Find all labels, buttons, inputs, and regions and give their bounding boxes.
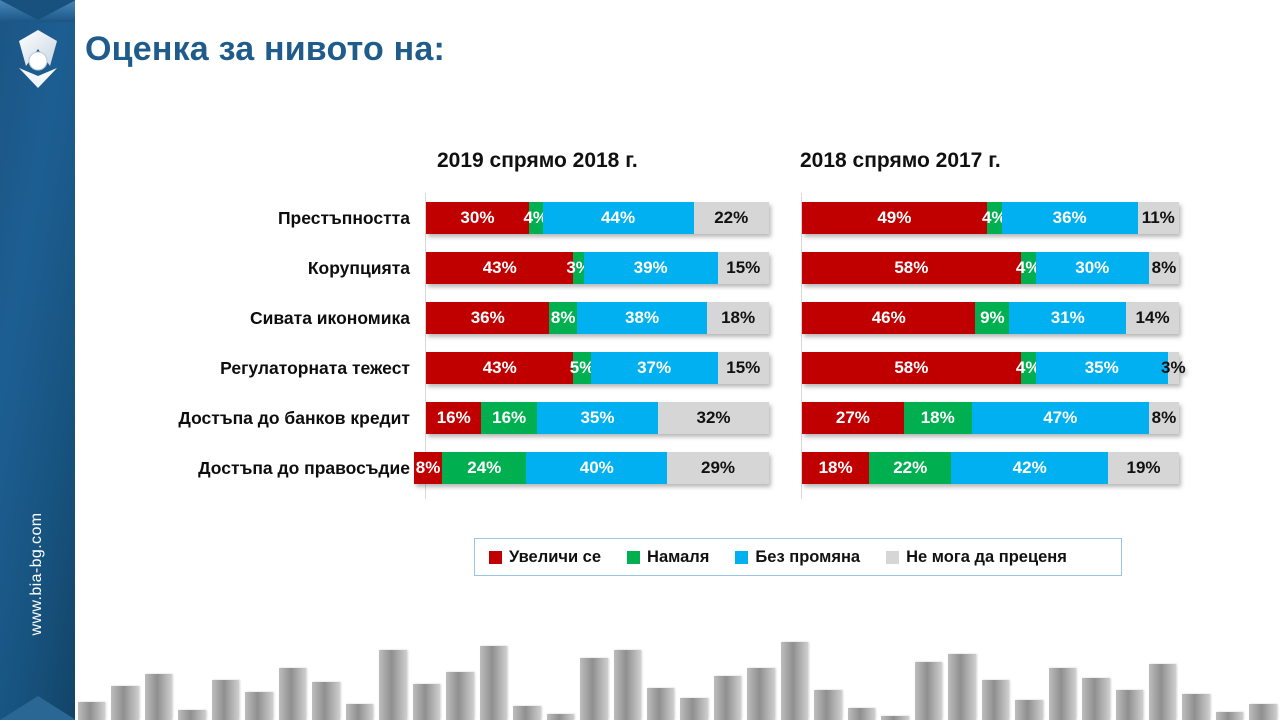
- category-label: Достъпа до правосъдие: [110, 443, 410, 493]
- data-label: 39%: [634, 258, 668, 278]
- segment-increase[interactable]: 27%: [802, 402, 904, 434]
- decorative-bar-strip: [75, 595, 1280, 720]
- data-label: 22%: [893, 458, 927, 478]
- data-label: 46%: [872, 308, 906, 328]
- segment-increase[interactable]: 43%: [426, 252, 573, 284]
- data-label: 35%: [1085, 358, 1119, 378]
- segment-no-change[interactable]: 35%: [1036, 352, 1168, 384]
- segment-no-change[interactable]: 47%: [972, 402, 1149, 434]
- bar-row: 46%9%31%14%: [802, 293, 1179, 343]
- chart-title-2019-vs-2018: 2019 спрямо 2018 г.: [437, 149, 638, 173]
- decorative-bar: [1249, 704, 1276, 720]
- decorative-bar: [145, 674, 172, 720]
- category-axis-labels: Престъпността Корупцията Сивата икономик…: [110, 193, 410, 493]
- stacked-bar[interactable]: 43%5%37%15%: [426, 352, 769, 384]
- stacked-bar[interactable]: 58%4%35%3%: [802, 352, 1179, 384]
- rail-top-notch: [0, 0, 75, 22]
- segment-cannot-judge[interactable]: 15%: [718, 252, 769, 284]
- decorative-bar: [747, 668, 774, 720]
- decorative-bar: [446, 672, 473, 720]
- segment-cannot-judge[interactable]: 15%: [718, 352, 769, 384]
- legend-swatch-decrease: [627, 551, 640, 564]
- bar-row: 43%3%39%15%: [426, 243, 769, 293]
- segment-no-change[interactable]: 40%: [526, 452, 667, 484]
- bia-emblem-icon: [7, 24, 69, 94]
- segment-no-change[interactable]: 31%: [1009, 302, 1126, 334]
- decorative-bar: [279, 668, 306, 720]
- legend-item-no-change[interactable]: Без промяна: [735, 548, 860, 567]
- data-label: 24%: [467, 458, 501, 478]
- chart-plot-2018-vs-2017: 49%4%36%11%58%4%30%8%46%9%31%14%58%4%35%…: [801, 193, 1179, 499]
- segment-decrease[interactable]: 4%: [1021, 352, 1036, 384]
- data-label: 16%: [437, 408, 471, 428]
- decorative-bar: [814, 690, 841, 720]
- legend-item-cannot-judge[interactable]: Не мога да преценя: [886, 548, 1067, 567]
- category-label: Сивата икономика: [110, 293, 410, 343]
- category-label: Корупцията: [110, 243, 410, 293]
- bar-row: 18%22%42%19%: [802, 443, 1179, 493]
- stacked-bar[interactable]: 16%16%35%32%: [426, 402, 769, 434]
- data-label: 9%: [980, 308, 1005, 328]
- decorative-bar: [1082, 678, 1109, 720]
- decorative-bar: [948, 654, 975, 720]
- segment-increase[interactable]: 58%: [802, 352, 1021, 384]
- decorative-bar: [714, 676, 741, 720]
- decorative-bar: [78, 702, 105, 720]
- stacked-bar[interactable]: 36%8%38%18%: [426, 302, 769, 334]
- decorative-bar: [982, 680, 1009, 720]
- segment-decrease[interactable]: 22%: [869, 452, 951, 484]
- data-label: 35%: [580, 408, 614, 428]
- bar-row: 16%16%35%32%: [426, 393, 769, 443]
- segment-decrease[interactable]: 24%: [442, 452, 526, 484]
- stacked-bar[interactable]: 30%4%44%22%: [426, 202, 769, 234]
- segment-no-change[interactable]: 36%: [1002, 202, 1138, 234]
- data-label: 30%: [460, 208, 494, 228]
- bar-row: 49%4%36%11%: [802, 193, 1179, 243]
- segment-cannot-judge[interactable]: 3%: [1168, 352, 1179, 384]
- segment-decrease[interactable]: 4%: [1021, 252, 1036, 284]
- data-label: 11%: [1142, 208, 1175, 228]
- data-label: 30%: [1075, 258, 1109, 278]
- category-label: Престъпността: [110, 193, 410, 243]
- chart-title-2018-vs-2017: 2018 спрямо 2017 г.: [800, 149, 1001, 173]
- legend-label-increase: Увеличи се: [509, 548, 601, 567]
- segment-decrease[interactable]: 5%: [573, 352, 590, 384]
- data-label: 38%: [625, 308, 659, 328]
- data-label: 18%: [921, 408, 955, 428]
- segment-decrease[interactable]: 9%: [975, 302, 1009, 334]
- segment-decrease[interactable]: 4%: [987, 202, 1002, 234]
- decorative-bar: [781, 642, 808, 720]
- decorative-bar: [178, 710, 205, 720]
- decorative-bar: [480, 646, 507, 720]
- segment-no-change[interactable]: 42%: [951, 452, 1108, 484]
- data-label: 49%: [877, 208, 911, 228]
- data-label: 37%: [637, 358, 671, 378]
- data-label: 43%: [483, 258, 517, 278]
- segment-increase[interactable]: 58%: [802, 252, 1021, 284]
- segment-increase[interactable]: 18%: [802, 452, 869, 484]
- bar-row: 58%4%35%3%: [802, 343, 1179, 393]
- segment-no-change[interactable]: 35%: [537, 402, 658, 434]
- segment-decrease[interactable]: 3%: [573, 252, 583, 284]
- bar-row: 30%4%44%22%: [426, 193, 769, 243]
- decorative-bar: [346, 704, 373, 720]
- segment-increase[interactable]: 36%: [426, 302, 549, 334]
- data-label: 15%: [726, 258, 760, 278]
- data-label: 40%: [580, 458, 614, 478]
- stacked-bar[interactable]: 18%22%42%19%: [802, 452, 1179, 484]
- data-label: 58%: [894, 258, 928, 278]
- stacked-bar[interactable]: 46%9%31%14%: [802, 302, 1179, 334]
- segment-no-change[interactable]: 38%: [577, 302, 707, 334]
- data-label: 8%: [551, 308, 576, 328]
- data-label: 43%: [483, 358, 517, 378]
- data-label: 15%: [726, 358, 760, 378]
- stacked-bar[interactable]: 49%4%36%11%: [802, 202, 1179, 234]
- data-label: 44%: [601, 208, 635, 228]
- chart-plot-2019-vs-2018: 30%4%44%22%43%3%39%15%36%8%38%18%43%5%37…: [425, 193, 769, 499]
- data-label: 36%: [471, 308, 505, 328]
- chart-legend: Увеличи се Намаля Без промяна Не мога да…: [474, 538, 1122, 576]
- segment-cannot-judge[interactable]: 18%: [707, 302, 769, 334]
- data-label: 16%: [492, 408, 526, 428]
- decorative-bar: [245, 692, 272, 720]
- decorative-bar: [1049, 668, 1076, 720]
- bar-row: 27%18%47%8%: [802, 393, 1179, 443]
- data-label: 32%: [697, 408, 731, 428]
- segment-increase[interactable]: 49%: [802, 202, 987, 234]
- bar-row: 36%8%38%18%: [426, 293, 769, 343]
- segment-increase[interactable]: 30%: [426, 202, 529, 234]
- segment-decrease[interactable]: 4%: [529, 202, 543, 234]
- stacked-bar[interactable]: 8%24%40%29%: [414, 452, 769, 484]
- decorative-bar: [547, 714, 574, 720]
- data-label: 47%: [1043, 408, 1077, 428]
- data-label: 18%: [819, 458, 853, 478]
- decorative-bar: [1116, 690, 1143, 720]
- segment-cannot-judge[interactable]: 8%: [1149, 402, 1179, 434]
- legend-label-decrease: Намаля: [647, 548, 709, 567]
- decorative-bar: [1182, 694, 1209, 720]
- decorative-bar: [580, 658, 607, 720]
- decorative-bar: [1149, 664, 1176, 720]
- decorative-bar: [312, 682, 339, 720]
- decorative-bar: [111, 686, 138, 720]
- segment-no-change[interactable]: 39%: [584, 252, 718, 284]
- legend-label-cannot-judge: Не мога да преценя: [906, 548, 1067, 567]
- segment-no-change[interactable]: 37%: [591, 352, 718, 384]
- legend-item-decrease[interactable]: Намаля: [627, 548, 709, 567]
- decorative-bar: [881, 716, 908, 720]
- stacked-bar[interactable]: 43%3%39%15%: [426, 252, 769, 284]
- bar-row: 58%4%30%8%: [802, 243, 1179, 293]
- category-label: Регулаторната тежест: [110, 343, 410, 393]
- bar-row: 8%24%40%29%: [426, 443, 769, 493]
- page-title: Оценка за нивото на:: [85, 30, 445, 69]
- decorative-bar: [379, 650, 406, 720]
- decorative-bar: [413, 684, 440, 720]
- data-label: 31%: [1051, 308, 1085, 328]
- data-label: 29%: [701, 458, 735, 478]
- data-label: 18%: [721, 308, 755, 328]
- segment-cannot-judge[interactable]: 14%: [1126, 302, 1179, 334]
- segment-no-change[interactable]: 30%: [1036, 252, 1149, 284]
- data-label: 8%: [1152, 408, 1177, 428]
- decorative-bar: [647, 688, 674, 720]
- segment-increase[interactable]: 8%: [414, 452, 442, 484]
- segment-cannot-judge[interactable]: 19%: [1108, 452, 1179, 484]
- segment-cannot-judge[interactable]: 11%: [1138, 202, 1179, 234]
- data-label: 36%: [1053, 208, 1087, 228]
- segment-decrease[interactable]: 18%: [904, 402, 972, 434]
- stacked-bar[interactable]: 58%4%30%8%: [802, 252, 1179, 284]
- decorative-bar: [212, 680, 239, 720]
- website-url[interactable]: www.bia-bg.com: [28, 474, 46, 674]
- segment-decrease[interactable]: 8%: [549, 302, 576, 334]
- data-label: 58%: [894, 358, 928, 378]
- decorative-bar: [680, 698, 707, 720]
- segment-no-change[interactable]: 44%: [543, 202, 694, 234]
- segment-cannot-judge[interactable]: 32%: [658, 402, 769, 434]
- decorative-bar: [848, 708, 875, 720]
- decorative-bar: [614, 650, 641, 720]
- data-label: 14%: [1136, 308, 1170, 328]
- data-label: 42%: [1013, 458, 1047, 478]
- bar-row: 43%5%37%15%: [426, 343, 769, 393]
- decorative-bar: [1216, 712, 1243, 720]
- rail-bottom-notch: [0, 694, 75, 720]
- data-label: 8%: [1152, 258, 1177, 278]
- segment-increase[interactable]: 43%: [426, 352, 573, 384]
- stacked-bar[interactable]: 27%18%47%8%: [802, 402, 1179, 434]
- decorative-bar: [513, 706, 540, 720]
- segment-cannot-judge[interactable]: 29%: [667, 452, 769, 484]
- legend-swatch-increase: [489, 551, 502, 564]
- data-label: 8%: [416, 458, 441, 478]
- segment-cannot-judge[interactable]: 8%: [1149, 252, 1179, 284]
- legend-item-increase[interactable]: Увеличи се: [489, 548, 601, 567]
- data-label: 27%: [836, 408, 870, 428]
- decorative-bar: [915, 662, 942, 720]
- legend-swatch-no-change: [735, 551, 748, 564]
- decorative-bar: [1015, 700, 1042, 720]
- brand-rail: www.bia-bg.com: [0, 0, 75, 720]
- legend-label-no-change: Без промяна: [755, 548, 860, 567]
- data-label: 19%: [1127, 458, 1161, 478]
- segment-increase[interactable]: 16%: [426, 402, 481, 434]
- segment-cannot-judge[interactable]: 22%: [694, 202, 769, 234]
- segment-increase[interactable]: 46%: [802, 302, 975, 334]
- data-label: 22%: [714, 208, 748, 228]
- category-label: Достъпа до банков кредит: [110, 393, 410, 443]
- legend-swatch-cannot-judge: [886, 551, 899, 564]
- segment-decrease[interactable]: 16%: [481, 402, 536, 434]
